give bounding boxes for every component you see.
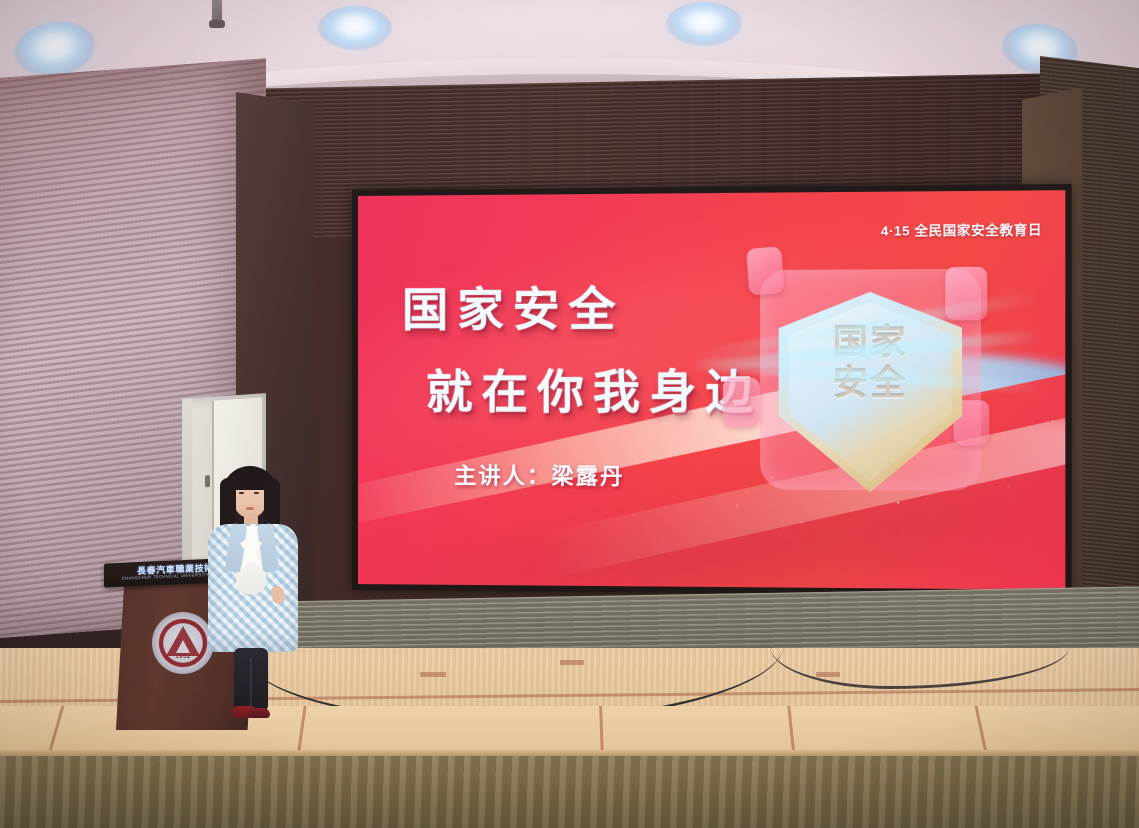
- slide-presenter-text: 主讲人：梁露丹: [454, 458, 624, 491]
- legs: [234, 648, 268, 710]
- eye: [254, 492, 259, 494]
- eye: [239, 492, 244, 494]
- emblem-triangle-icon: [166, 626, 200, 656]
- sprinkler-icon: [212, 0, 222, 26]
- speaker: [206, 462, 298, 730]
- led-screen-bezel: 4·15 全民国家安全教育日 国家安全 就在你我身边 主讲人：梁露丹 国家 安全: [352, 184, 1072, 596]
- downlight-icon: [666, 2, 742, 46]
- led-screen-display: 4·15 全民国家安全教育日 国家安全 就在你我身边 主讲人：梁露丹 国家 安全: [358, 190, 1065, 590]
- downlight-icon: [318, 6, 392, 50]
- stage-front-panel: [0, 756, 1139, 828]
- shield-tab: [746, 246, 784, 295]
- leg-separation: [250, 658, 252, 710]
- mouth: [246, 507, 254, 510]
- shield-graphic: 国家 安全: [725, 246, 1027, 534]
- auditorium-scene: 4·15 全民国家安全教育日 国家安全 就在你我身边 主讲人：梁露丹 国家 安全: [0, 0, 1139, 828]
- slide-title-line-1: 国家安全: [402, 272, 762, 340]
- shoe: [248, 708, 270, 718]
- university-emblem: 1952: [152, 612, 214, 674]
- slide-header-text: 4·15 全民国家安全教育日: [881, 219, 1042, 240]
- emblem-year: 1952: [152, 654, 214, 660]
- shield-tab: [723, 378, 760, 427]
